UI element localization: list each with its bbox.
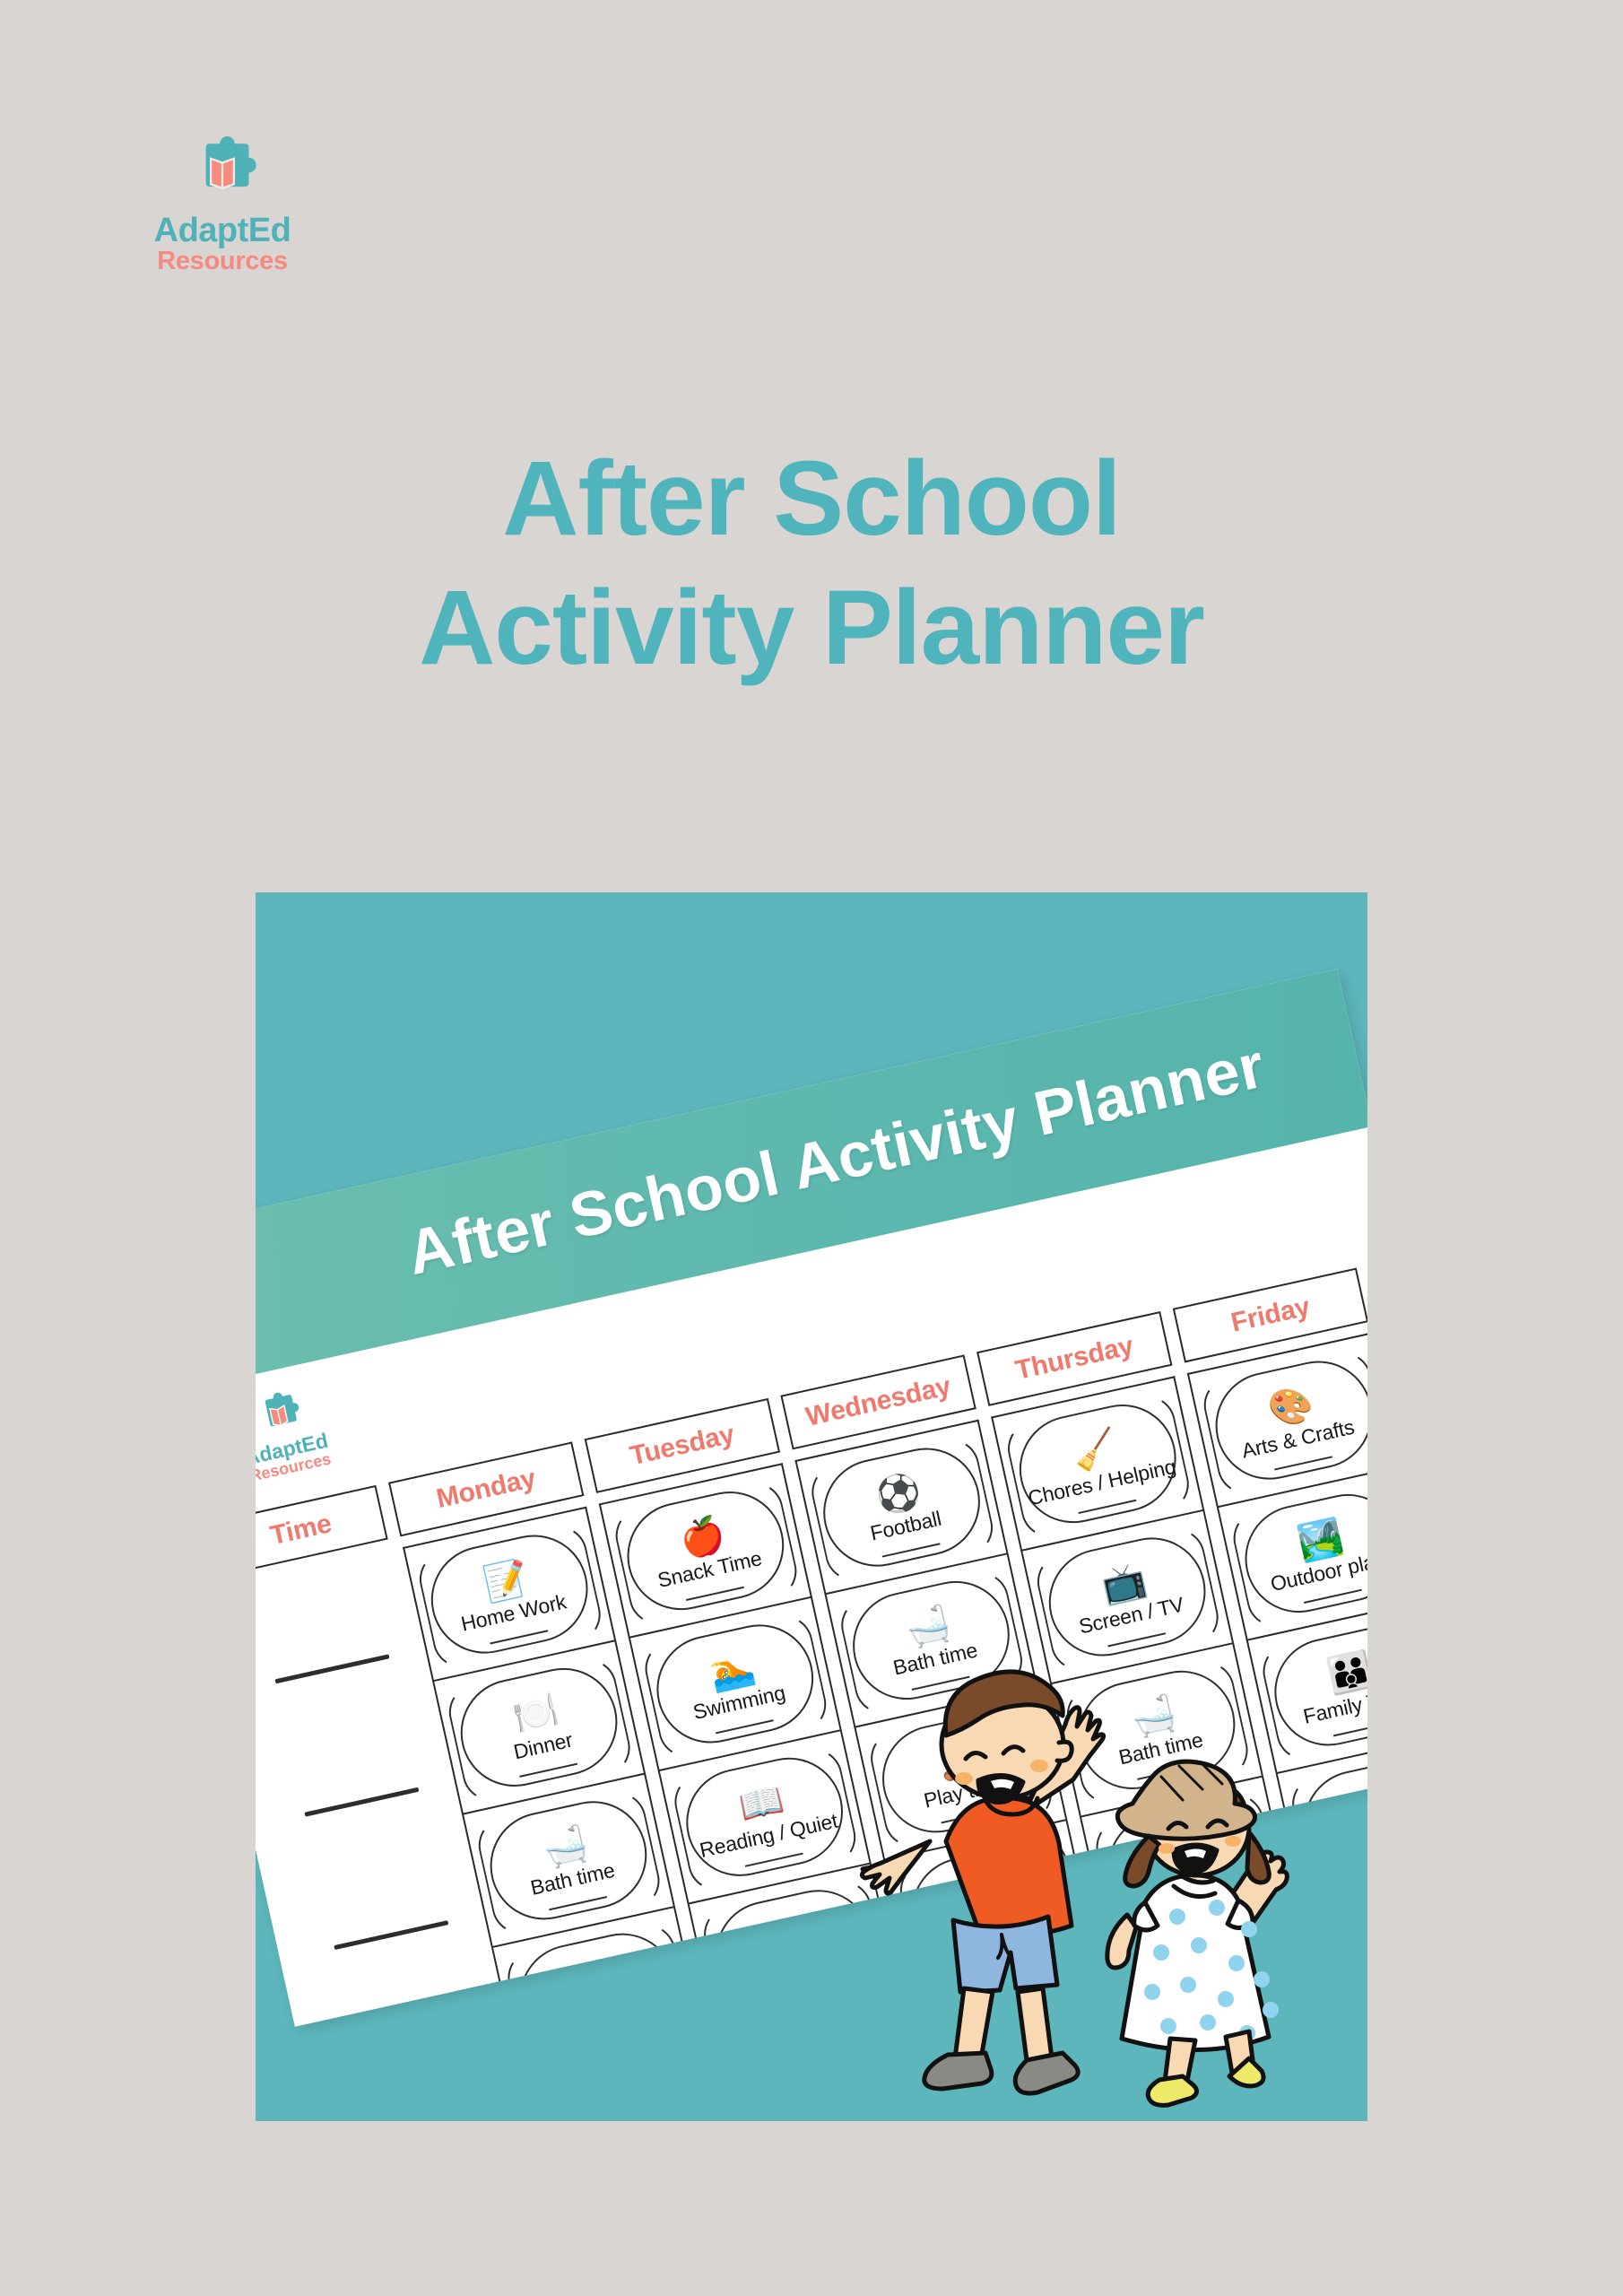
homework-icon: 📝: [481, 1559, 532, 1604]
brand-logo: AdaptEd Resources: [97, 126, 348, 274]
activity-underline: [1274, 1456, 1332, 1470]
activity-underline: [1363, 1855, 1367, 1869]
activity-underline: [745, 1853, 803, 1867]
arts-crafts-icon: 🎨: [1265, 1385, 1316, 1430]
day-header-label: Monday: [434, 1464, 539, 1515]
day-header-label: Friday: [1228, 1291, 1313, 1338]
activity-pill[interactable]: 🍎Snack Time: [617, 1481, 794, 1620]
activity-underline: [490, 1630, 548, 1644]
swing-icon: 🏞️: [1295, 1518, 1346, 1562]
activity-underline: [686, 1587, 744, 1601]
activity-underline: [1078, 1500, 1136, 1514]
time-write-in-line: [304, 1787, 419, 1817]
bed-icon: 🛏️: [569, 1957, 621, 2002]
day-header-label: Thursday: [1012, 1331, 1136, 1387]
time-column-header-label: Time: [268, 1509, 334, 1552]
tv-icon: 📺: [1098, 1561, 1150, 1606]
bath-icon: 🛁: [540, 1825, 591, 1870]
page-title-line-2: Activity Planner: [0, 564, 1623, 693]
activity-underline: [716, 1719, 774, 1734]
activity-pill[interactable]: 🏊Swimming: [647, 1614, 824, 1753]
puzzle-book-icon: [181, 126, 264, 208]
activity-label: Bed Time: [558, 1990, 647, 2027]
activity-pill[interactable]: 🍽️Dinner: [450, 1657, 628, 1796]
activity-pill[interactable]: 🎨Arts & Crafts: [1205, 1351, 1367, 1490]
two-children-illustration: [811, 1601, 1314, 2112]
activity-pill[interactable]: ⚽Football: [813, 1438, 991, 1577]
activity-pill[interactable]: 🛏️Bed Time: [509, 1923, 687, 2027]
bed-icon: 🛏️: [765, 1914, 816, 1959]
poster-page: AdaptEd Resources After School Activity …: [0, 0, 1623, 2296]
activity-underline: [882, 1543, 941, 1557]
girl-figure: [1107, 1761, 1287, 2105]
activity-pill[interactable]: 🧹Chores / Helping: [1009, 1394, 1186, 1533]
time-write-in-line: [275, 1654, 390, 1683]
brand-name: AdaptEd: [97, 213, 348, 248]
page-title: After School Activity Planner: [0, 435, 1623, 693]
time-write-in-line: [334, 1920, 448, 1950]
swimming-icon: 🏊: [707, 1648, 758, 1693]
day-header-label: Wednesday: [803, 1371, 954, 1433]
product-showcase-panel: After School Activity Planner AdaptEd Re…: [256, 892, 1367, 2121]
reading-icon: 📖: [736, 1781, 787, 1826]
activity-underline: [1333, 1722, 1367, 1736]
day-header-label: Tuesday: [628, 1420, 738, 1473]
boy-figure: [862, 1672, 1103, 2093]
bed-icon: 🛏️: [1354, 1783, 1367, 1828]
dinner-icon: 🍽️: [510, 1692, 561, 1736]
broom-icon: 🧹: [1069, 1429, 1120, 1474]
family-icon: 👪: [1324, 1651, 1367, 1696]
page-title-line-1: After School: [0, 435, 1623, 564]
worksheet-brand-logo: AdaptEd Resources: [256, 1370, 371, 1493]
activity-underline: [549, 1896, 607, 1910]
brand-subtitle: Resources: [97, 248, 348, 274]
activity-pill[interactable]: 📝Home Work: [421, 1525, 598, 1664]
football-icon: ⚽: [873, 1472, 924, 1517]
snack-icon: 🍎: [677, 1515, 728, 1560]
activity-label: Bed Time: [1341, 1816, 1367, 1858]
activity-pill[interactable]: 🛁Bath time: [480, 1791, 657, 1930]
activity-underline: [519, 1763, 577, 1778]
